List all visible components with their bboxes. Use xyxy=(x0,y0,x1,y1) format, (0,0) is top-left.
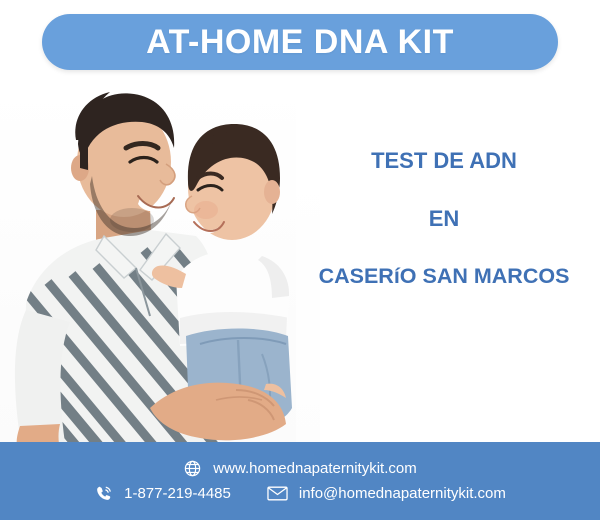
globe-icon xyxy=(183,459,202,478)
website-item[interactable]: www.homednapaternitykit.com xyxy=(183,459,416,478)
phone-icon xyxy=(94,484,113,503)
footer-website-row: www.homednapaternitykit.com xyxy=(183,459,416,478)
headline-block: TEST DE ADN EN CASERíO SAN MARCOS xyxy=(296,150,592,288)
headline-line-1: TEST DE ADN xyxy=(296,150,592,172)
header-title: AT-HOME DNA KIT xyxy=(146,25,454,59)
footer-contact-bar: www.homednapaternitykit.com 1-877-219-44… xyxy=(0,442,600,520)
email-item[interactable]: info@homednapaternitykit.com xyxy=(267,484,506,503)
header-banner: AT-HOME DNA KIT xyxy=(42,14,558,70)
phone-text: 1-877-219-4485 xyxy=(124,486,231,501)
headline-line-3: CASERíO SAN MARCOS xyxy=(296,266,592,288)
phone-item[interactable]: 1-877-219-4485 xyxy=(94,484,231,503)
family-photo xyxy=(0,78,320,450)
website-text: www.homednapaternitykit.com xyxy=(213,461,416,476)
email-text: info@homednapaternitykit.com xyxy=(299,486,506,501)
dna-kit-promo-card: AT-HOME DNA KIT xyxy=(0,0,600,520)
footer-phone-email-row: 1-877-219-4485 info@homednapaternitykit.… xyxy=(94,484,506,503)
envelope-icon xyxy=(267,484,288,503)
headline-line-2: EN xyxy=(296,208,592,230)
